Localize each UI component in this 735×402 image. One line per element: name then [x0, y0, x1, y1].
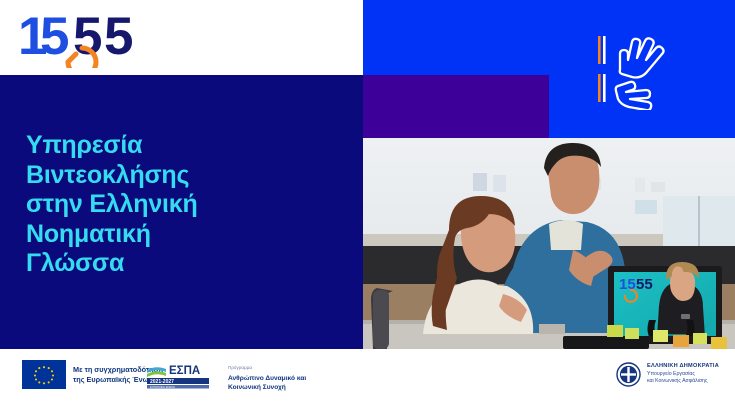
- office-photo: 15 55: [363, 138, 735, 349]
- espa-logo: ΕΣΠΑ 2021-2027 ΕΥΡΩΠΑΪΚΗ ΕΝΩΣΗ: [146, 361, 218, 389]
- eu-cofunding-logo: Με τη συγχρηματοδότηση της Ευρωπαϊκής Έν…: [22, 360, 163, 389]
- logo-digit-5c: 5: [104, 12, 133, 66]
- logo-digit-5b: 5: [73, 12, 102, 66]
- espa-title: ΕΣΠΑ: [169, 365, 200, 377]
- bar-orange-top: [598, 36, 601, 64]
- logo-digit-5a: 5: [40, 12, 69, 66]
- espa-period: 2021-2027: [150, 379, 174, 385]
- espa-wave-mark: [147, 367, 166, 377]
- hand-upper: [620, 38, 664, 77]
- logo-1555[interactable]: 1 5 5 5: [18, 12, 148, 68]
- hellenic-republic-logo: ΕΛΛΗΝΙΚΗ ΔΗΜΟΚΡΑΤΙΑ Υπουργείο Εργασίας κ…: [616, 362, 719, 387]
- sign-language-hands-icon: [596, 28, 688, 110]
- program-info: Πρόγραμμα Ανθρώπινο Δυναμικό και Κοινωνι…: [228, 363, 306, 392]
- bar-white-bottom: [603, 74, 606, 102]
- bar-white-top: [603, 36, 606, 64]
- program-name: Ανθρώπινο Δυναμικό και Κοινωνική Συνοχή: [228, 374, 306, 392]
- hellenic-republic-emblem: [616, 362, 641, 387]
- bar-orange-bottom: [598, 74, 601, 102]
- purple-accent-block: [363, 75, 549, 138]
- page-title: Υπηρεσία Βιντεοκλήσης στην Ελληνική Νοημ…: [26, 131, 346, 279]
- program-label: Πρόγραμμα: [228, 363, 306, 372]
- hand-lower: [616, 82, 651, 110]
- promotional-banner: 1 5 5 5 Υπηρεσία Βιντεοκλήσης στην Ελλην…: [0, 0, 735, 402]
- hellenic-republic-text: ΕΛΛΗΝΙΚΗ ΔΗΜΟΚΡΑΤΙΑ Υπουργείο Εργασίας κ…: [647, 363, 719, 385]
- european-union-flag: [22, 360, 66, 389]
- espa-subtitle: ΕΥΡΩΠΑΪΚΗ ΕΝΩΣΗ: [150, 385, 175, 389]
- svg-text:55: 55: [636, 276, 653, 293]
- gov-title: ΕΛΛΗΝΙΚΗ ΔΗΜΟΚΡΑΤΙΑ: [647, 363, 719, 370]
- gov-subtitle: Υπουργείο Εργασίας και Κοινωνικής Ασφάλι…: [647, 371, 719, 386]
